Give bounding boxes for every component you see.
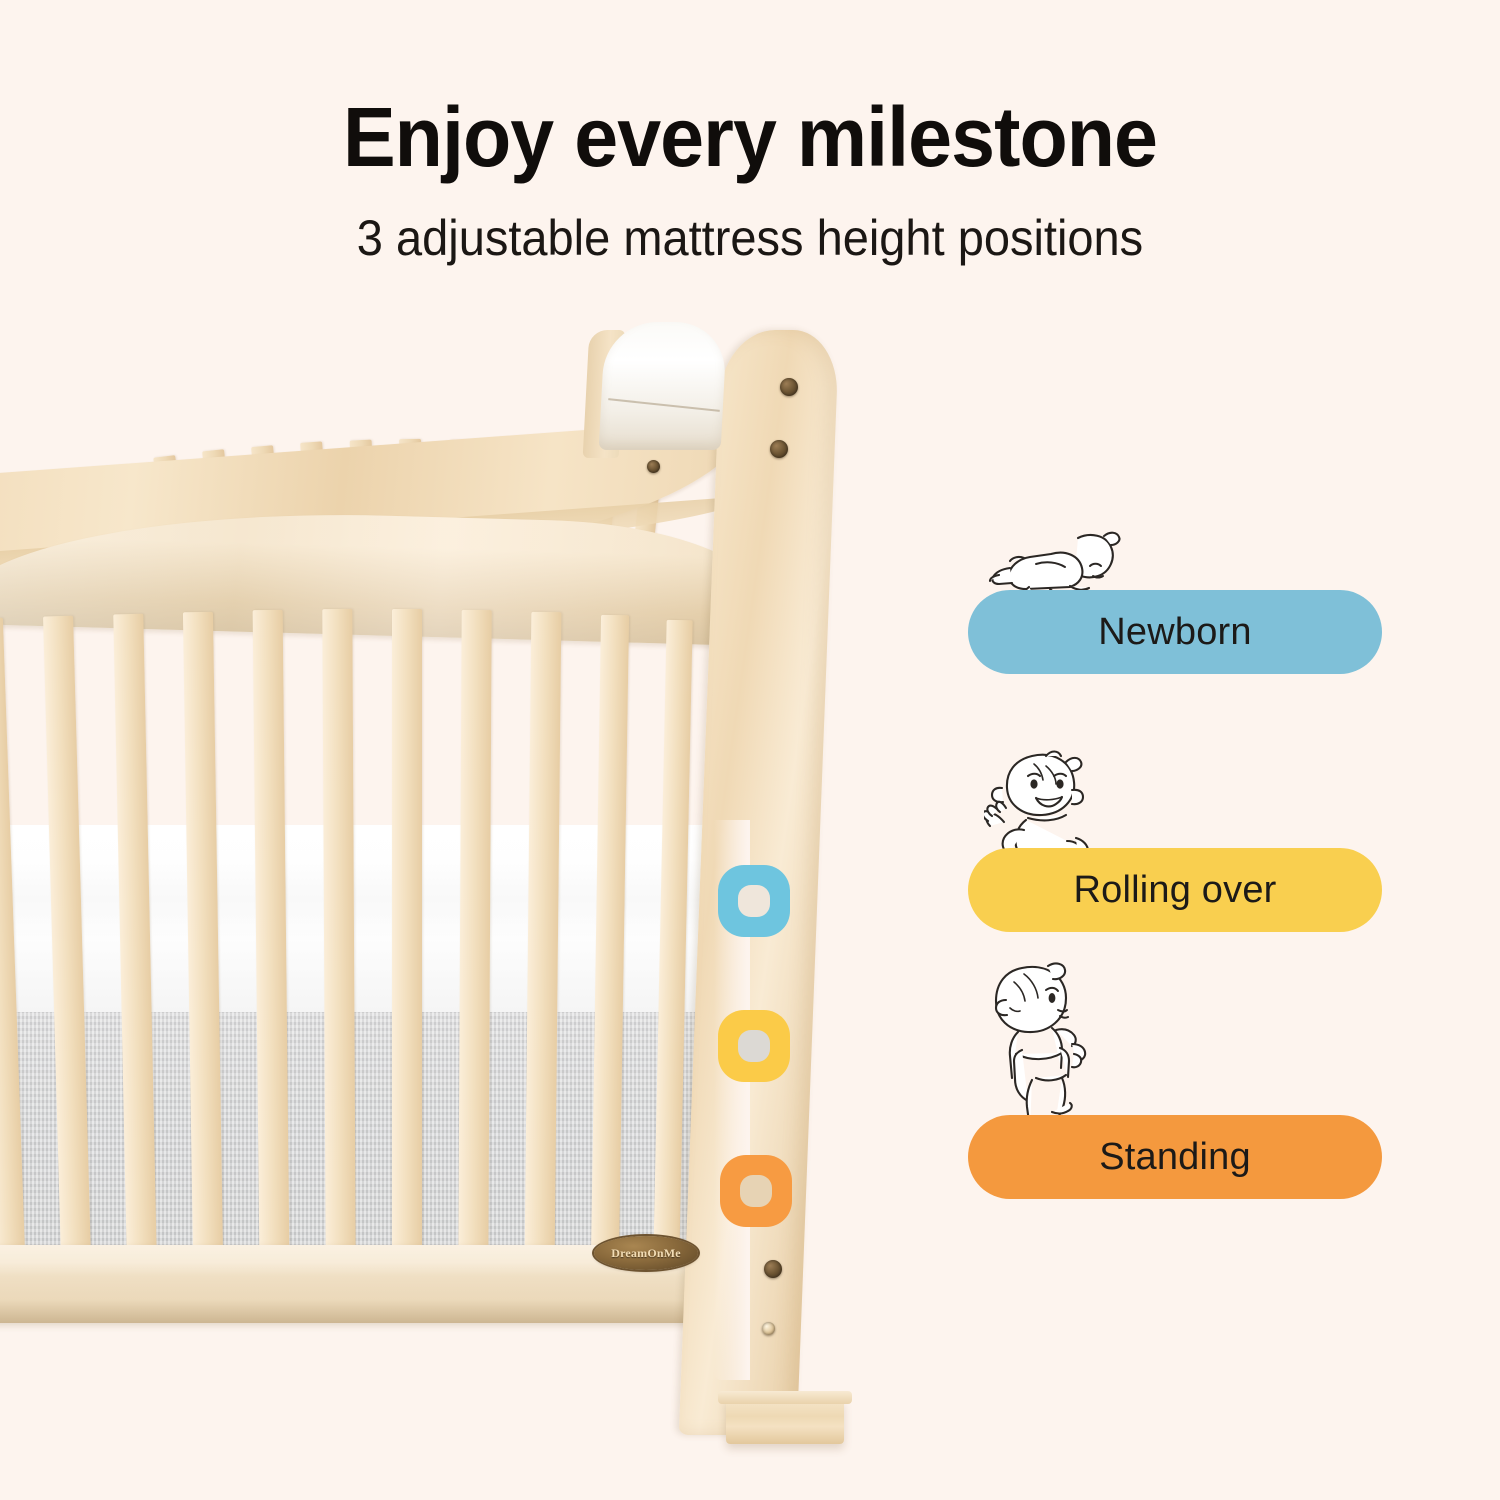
header: Enjoy every milestone 3 adjustable mattr… <box>0 95 1500 263</box>
crib-product-image: DreamOnMe <box>0 300 890 1480</box>
crib-slat <box>322 609 355 1258</box>
bolt-cap-icon <box>647 460 660 473</box>
milestone-label-rolling-over: Rolling over <box>1073 869 1276 912</box>
milestone-pill-standing[interactable]: Standing <box>968 1115 1382 1199</box>
page-subtitle: 3 adjustable mattress height positions <box>45 213 1455 263</box>
infographic-canvas: Enjoy every milestone 3 adjustable mattr… <box>0 0 1500 1500</box>
crib-slat <box>458 610 491 1258</box>
milestone-label-standing: Standing <box>1099 1136 1251 1179</box>
milestone-pill-newborn[interactable]: Newborn <box>968 590 1382 674</box>
bolt-cap-icon <box>770 440 788 458</box>
milestone-pill-rolling-over[interactable]: Rolling over <box>968 848 1382 932</box>
height-marker-rolling-over[interactable] <box>718 1010 790 1082</box>
height-marker-standing[interactable] <box>720 1155 792 1227</box>
brand-plaque: DreamOnMe <box>594 1236 698 1270</box>
bolt-cap-icon <box>780 378 798 396</box>
crib-foot-base <box>726 1398 844 1444</box>
milestone-label-newborn: Newborn <box>1098 611 1251 654</box>
crib-slat <box>392 609 422 1258</box>
crib-scroll-top <box>599 322 728 450</box>
crib-slat <box>253 610 290 1258</box>
page-title: Enjoy every milestone <box>45 95 1455 179</box>
height-marker-newborn[interactable] <box>718 865 790 937</box>
bolt-cap-icon <box>764 1260 782 1278</box>
marker-hole <box>740 1175 772 1207</box>
brand-plaque-label: DreamOnMe <box>611 1246 681 1261</box>
marker-hole <box>738 1030 770 1062</box>
marker-hole <box>738 885 770 917</box>
bolt-cap-icon <box>762 1322 775 1335</box>
